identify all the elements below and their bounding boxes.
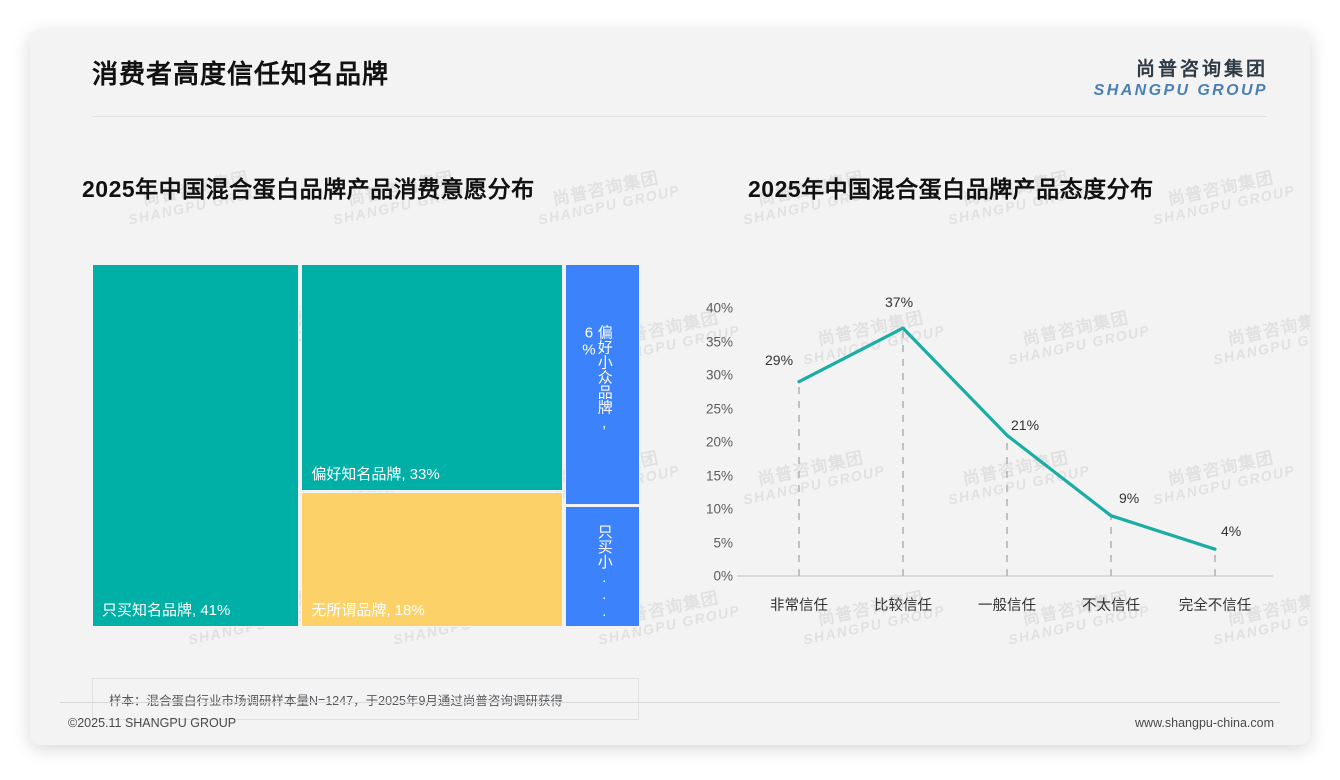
- footer-website[interactable]: www.shangpu-china.com: [1135, 716, 1274, 730]
- treemap-cell-label: 只买知名品牌, 41%: [102, 599, 230, 620]
- x-axis-tick-label: 比较信任: [874, 594, 932, 615]
- left-chart-title: 2025年中国混合蛋白品牌产品消费意愿分布: [82, 170, 535, 204]
- treemap-cell[interactable]: 偏好知名品牌, 33%: [301, 264, 563, 491]
- treemap-cell-label: 无所谓品牌, 18%: [311, 599, 424, 620]
- line-chart: 0%5%10%15%20%25%30%35%40%29%37%21%9%4%非常…: [685, 292, 1285, 632]
- watermark-text: 尚普咨询集团SHANGPU GROUP: [1148, 165, 1296, 227]
- treemap-cell[interactable]: 只买小...: [565, 506, 640, 627]
- footnote-text: 样本：混合蛋白行业市场调研样本量N=1247，于2025年9月通过尚普咨询调研获…: [109, 690, 563, 709]
- treemap-chart: 只买知名品牌, 41%偏好知名品牌, 33%无所谓品牌, 18%偏好小众品牌, …: [92, 264, 640, 627]
- footnote-box: 样本：混合蛋白行业市场调研样本量N=1247，于2025年9月通过尚普咨询调研获…: [92, 678, 639, 720]
- treemap-cell[interactable]: 只买知名品牌, 41%: [92, 264, 299, 627]
- header-divider: [92, 116, 1267, 117]
- slide-header: 消费者高度信任知名品牌 尚普咨询集团 SHANGPU GROUP: [30, 30, 1310, 112]
- footer-copyright: ©2025.11 SHANGPU GROUP: [68, 716, 236, 730]
- treemap-cell[interactable]: 偏好小众品牌, 6%: [565, 264, 640, 505]
- data-point-label: 21%: [1011, 417, 1039, 433]
- data-point-label: 37%: [885, 294, 913, 310]
- watermark-text: 尚普咨询集团SHANGPU GROUP: [533, 165, 681, 227]
- line-chart-svg: [685, 292, 1285, 632]
- data-point-label: 4%: [1221, 523, 1241, 539]
- brand-logo-en: SHANGPU GROUP: [1094, 82, 1268, 100]
- x-axis-tick-label: 非常信任: [770, 594, 828, 615]
- brand-logo-cn: 尚普咨询集团: [1094, 54, 1268, 81]
- x-axis-tick-label: 一般信任: [978, 594, 1036, 615]
- x-axis-tick-label: 不太信任: [1082, 594, 1140, 615]
- treemap-cell-label: 偏好小众品牌, 6%: [594, 325, 612, 444]
- page-title: 消费者高度信任知名品牌: [92, 54, 389, 91]
- footer-divider: [60, 702, 1280, 703]
- treemap-cell-label: 偏好知名品牌, 33%: [311, 463, 439, 484]
- treemap-cell[interactable]: 无所谓品牌, 18%: [301, 492, 563, 627]
- x-axis-tick-label: 完全不信任: [1179, 594, 1252, 615]
- data-point-label: 29%: [765, 352, 793, 368]
- data-point-label: 9%: [1119, 490, 1139, 506]
- slide-card: 尚普咨询集团SHANGPU GROUP尚普咨询集团SHANGPU GROUP尚普…: [30, 30, 1310, 745]
- brand-logo: 尚普咨询集团 SHANGPU GROUP: [1094, 54, 1268, 100]
- right-chart-title: 2025年中国混合蛋白品牌产品态度分布: [748, 170, 1154, 204]
- treemap-cell-label: 只买小...: [594, 524, 612, 620]
